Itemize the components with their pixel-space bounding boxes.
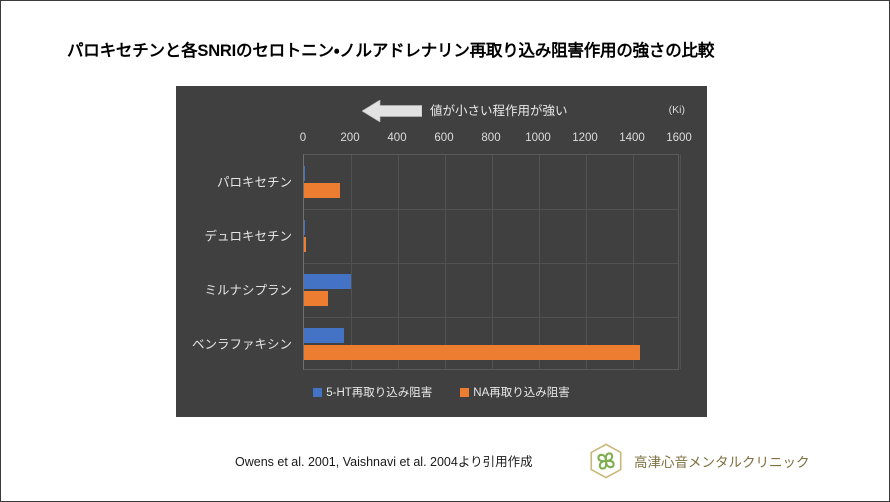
vertical-gridline — [633, 155, 634, 369]
bar-na — [304, 291, 328, 306]
vertical-gridline — [351, 155, 352, 369]
y-axis-category-label: ミルナシプラン — [204, 280, 292, 299]
bar-na — [304, 183, 340, 198]
x-axis-tick-label: 1600 — [666, 132, 692, 144]
y-axis-category-label: パロキセチン — [217, 172, 292, 191]
bar-5ht — [304, 274, 351, 289]
vertical-gridline — [492, 155, 493, 369]
vertical-gridline — [539, 155, 540, 369]
y-axis-category-label: ベンラファキシン — [192, 334, 292, 353]
slide-page: パロキセチンと各SNRIのセロトニン・ノルアドレナリン再取り込み阻害作用の強さの… — [0, 0, 890, 502]
legend-entry[interactable]: NA再取り込み阻害 — [460, 384, 569, 400]
legend-swatch — [460, 388, 469, 397]
clover-hexagon-icon — [587, 442, 625, 480]
horizontal-gridline — [304, 209, 678, 210]
y-axis-category-label: デュロキセチン — [204, 226, 292, 245]
legend-label: NA再取り込み阻害 — [473, 384, 569, 400]
legend-entry[interactable]: 5-HT再取り込み阻害 — [313, 384, 432, 400]
chart-panel: 値が小さい程作用が強い (Ki) 02004006008001000120014… — [176, 86, 707, 417]
chart-legend: 5-HT再取り込み阻害NA再取り込み阻害 — [176, 384, 707, 400]
x-axis-ticks: 02004006008001000120014001600 — [176, 132, 707, 150]
bar-na — [304, 345, 640, 360]
unit-label: (Ki) — [669, 104, 685, 116]
page-title: パロキセチンと各SNRIのセロトニン・ノルアドレナリン再取り込み阻害作用の強さの… — [67, 37, 847, 61]
clinic-logo: 高津心音メンタルクリニック — [587, 442, 810, 480]
vertical-gridline — [586, 155, 587, 369]
x-axis-tick-label: 1000 — [525, 132, 551, 144]
x-axis-tick-label: 200 — [340, 132, 359, 144]
bar-5ht — [304, 166, 305, 181]
annotation-text: 値が小さい程作用が強い — [430, 100, 568, 119]
bar-5ht — [304, 220, 305, 235]
chart-annotation: 値が小さい程作用が強い (Ki) — [176, 98, 707, 124]
bar-5ht — [304, 328, 344, 343]
vertical-gridline — [398, 155, 399, 369]
plot-area — [303, 154, 679, 370]
bar-na — [304, 237, 306, 252]
x-axis-tick-label: 600 — [434, 132, 453, 144]
x-axis-tick-label: 1400 — [619, 132, 645, 144]
clinic-name: 高津心音メンタルクリニック — [634, 451, 810, 471]
citation-text: Owens et al. 2001, Vaishnavi et al. 2004… — [235, 451, 533, 470]
x-axis-tick-label: 1200 — [572, 132, 598, 144]
horizontal-gridline — [304, 263, 678, 264]
horizontal-gridline — [304, 317, 678, 318]
x-axis-tick-label: 800 — [481, 132, 500, 144]
x-axis-tick-label: 0 — [300, 132, 306, 144]
legend-swatch — [313, 388, 322, 397]
y-axis-labels: パロキセチンデュロキセチンミルナシプランベンラファキシン — [176, 154, 298, 370]
vertical-gridline — [445, 155, 446, 369]
vertical-gridline — [680, 155, 681, 369]
legend-label: 5-HT再取り込み阻害 — [326, 384, 432, 400]
arrow-left-icon — [362, 100, 422, 122]
x-axis-tick-label: 400 — [387, 132, 406, 144]
